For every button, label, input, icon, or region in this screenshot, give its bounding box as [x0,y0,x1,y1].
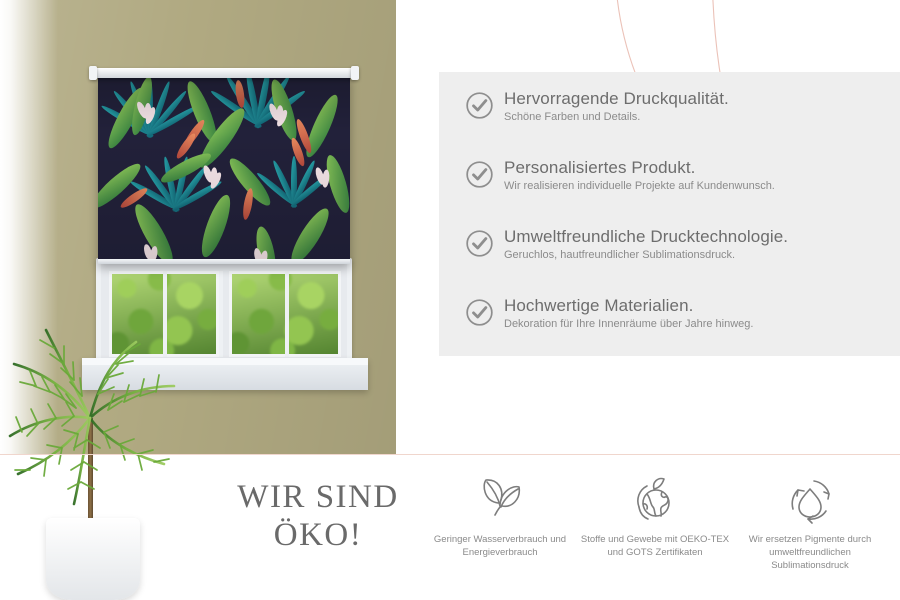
window-mullion [219,271,223,357]
potted-plant [0,268,208,600]
feature-item: Umweltfreundliche Drucktechnologie. Geru… [465,227,788,263]
blind-bottom-rail [98,259,350,264]
feature-subtitle: Wir realisieren individuelle Projekte au… [504,179,775,194]
eco-column: Stoffe und Gewebe mit OEKO-TEX und GOTS … [575,470,735,559]
eco-column: Geringer Wasserverbrauch und Energieverb… [420,470,580,559]
blind-shading [98,76,350,264]
check-circle-icon [465,298,494,327]
feature-item: Hervorragende Druckqualität. Schöne Farb… [465,89,729,125]
feature-title: Hochwertige Materialien. [504,296,753,316]
feature-text: Hochwertige Materialien. Dekoration für … [504,296,753,332]
eco-heading-line1: WIR SIND [228,478,408,516]
roller-blind [98,76,350,264]
eco-caption: Wir ersetzen Pigmente durch umweltfreund… [730,533,890,572]
eco-caption: Stoffe und Gewebe mit OEKO-TEX und GOTS … [575,533,735,559]
check-circle-icon [465,160,494,189]
water-drop-recycle-icon [730,470,890,528]
eco-column: Wir ersetzen Pigmente durch umweltfreund… [730,470,890,572]
feature-item: Hochwertige Materialien. Dekoration für … [465,296,753,332]
feature-subtitle: Geruchlos, hautfreundlicher Sublimations… [504,248,788,263]
eco-caption: Geringer Wasserverbrauch und Energieverb… [420,533,580,559]
section-divider [0,454,900,455]
roller-bracket-right [351,66,359,80]
feature-title: Umweltfreundliche Drucktechnologie. [504,227,788,247]
feature-text: Umweltfreundliche Drucktechnologie. Geru… [504,227,788,263]
plant-pot [46,518,140,600]
globe-leaf-icon [575,470,735,528]
promo-banner: Hervorragende Druckqualität. Schöne Farb… [0,0,900,600]
two-leaves-icon [420,470,580,528]
plant-fronds [0,268,208,538]
feature-title: Hervorragende Druckqualität. [504,89,729,109]
feature-item: Personalisiertes Produkt. Wir realisiere… [465,158,775,194]
eco-heading-line2: ÖKO! [228,516,408,554]
check-circle-icon [465,229,494,258]
eco-heading: WIR SIND ÖKO! [228,478,408,554]
feature-subtitle: Schöne Farben und Details. [504,110,729,125]
window-mullion [285,271,289,357]
feature-text: Hervorragende Druckqualität. Schöne Farb… [504,89,729,125]
check-circle-icon [465,91,494,120]
features-panel: Hervorragende Druckqualität. Schöne Farb… [439,72,900,356]
roller-bracket-left [89,66,97,80]
feature-text: Personalisiertes Produkt. Wir realisiere… [504,158,775,194]
feature-title: Personalisiertes Produkt. [504,158,775,178]
roller-bar [92,68,356,78]
feature-subtitle: Dekoration für Ihre Innenräume über Jahr… [504,317,753,332]
